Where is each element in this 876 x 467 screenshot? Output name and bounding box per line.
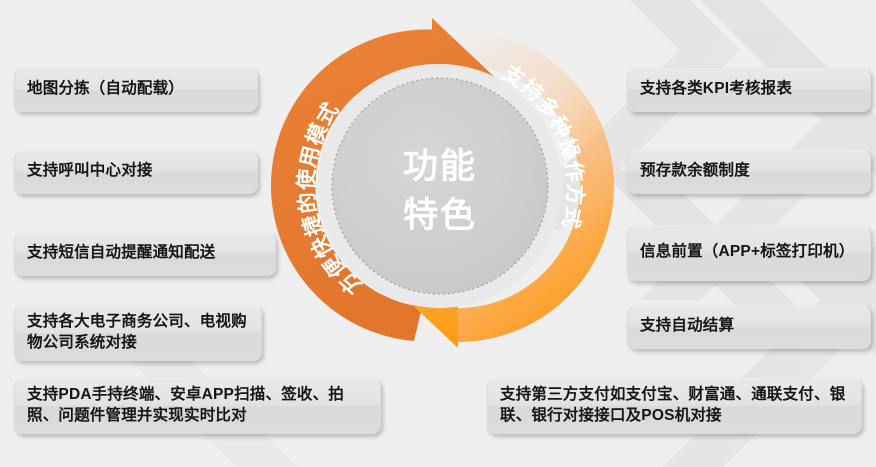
feature-box-call-center[interactable]: 支持呼叫中心对接 [14,150,258,194]
center-disc [332,78,548,294]
feature-box-auto-settlement[interactable]: 支持自动结算 [627,305,871,349]
feature-box-map-sorting[interactable]: 地图分拣（自动配载） [14,68,258,112]
feature-box-ecommerce-docking[interactable]: 支持各大电子商务公司、电视购物公司系统对接 [14,305,262,361]
center-title-line2: 特色 [403,196,477,235]
feature-box-third-party-pay[interactable]: 支持第三方支付如支付宝、财富通、通联支付、银联、银行对接接口及POS机对接 [487,378,862,434]
feature-label: 支持自动结算 [640,316,858,337]
feature-label: 信息前置（APP+标签打印机） [640,242,858,263]
feature-box-kpi-reports[interactable]: 支持各类KPI考核报表 [627,68,871,112]
feature-label: 支持PDA手持终端、安卓APP扫描、签收、拍照、问题件管理并实现实时比对 [27,385,368,427]
feature-label: 预存款余额制度 [640,161,858,182]
feature-label: 支持第三方支付如支付宝、财富通、通联支付、银联、银行对接接口及POS机对接 [500,385,849,427]
feature-label: 支持呼叫中心对接 [27,161,245,182]
feature-box-sms-notify[interactable]: 支持短信自动提醒通知配送 [14,232,276,276]
feature-label: 支持各大电子商务公司、电视购物公司系统对接 [27,312,249,354]
cycle-diagram: 功能 特色 方便快捷的使用模式 支持多种操作方式 [262,8,618,364]
feature-box-info-frontload[interactable]: 信息前置（APP+标签打印机） [627,225,871,281]
center-title-line1: 功能 [403,147,477,186]
feature-label: 支持短信自动提醒通知配送 [27,243,263,264]
slide-canvas: 功能 特色 方便快捷的使用模式 支持多种操作方式 地图分拣（自动配载） 支持呼叫… [0,0,876,467]
feature-label: 地图分拣（自动配载） [27,79,245,100]
feature-box-prepaid-balance[interactable]: 预存款余额制度 [627,150,871,194]
feature-label: 支持各类KPI考核报表 [640,79,858,100]
feature-box-pda-terminal[interactable]: 支持PDA手持终端、安卓APP扫描、签收、拍照、问题件管理并实现实时比对 [14,378,381,434]
